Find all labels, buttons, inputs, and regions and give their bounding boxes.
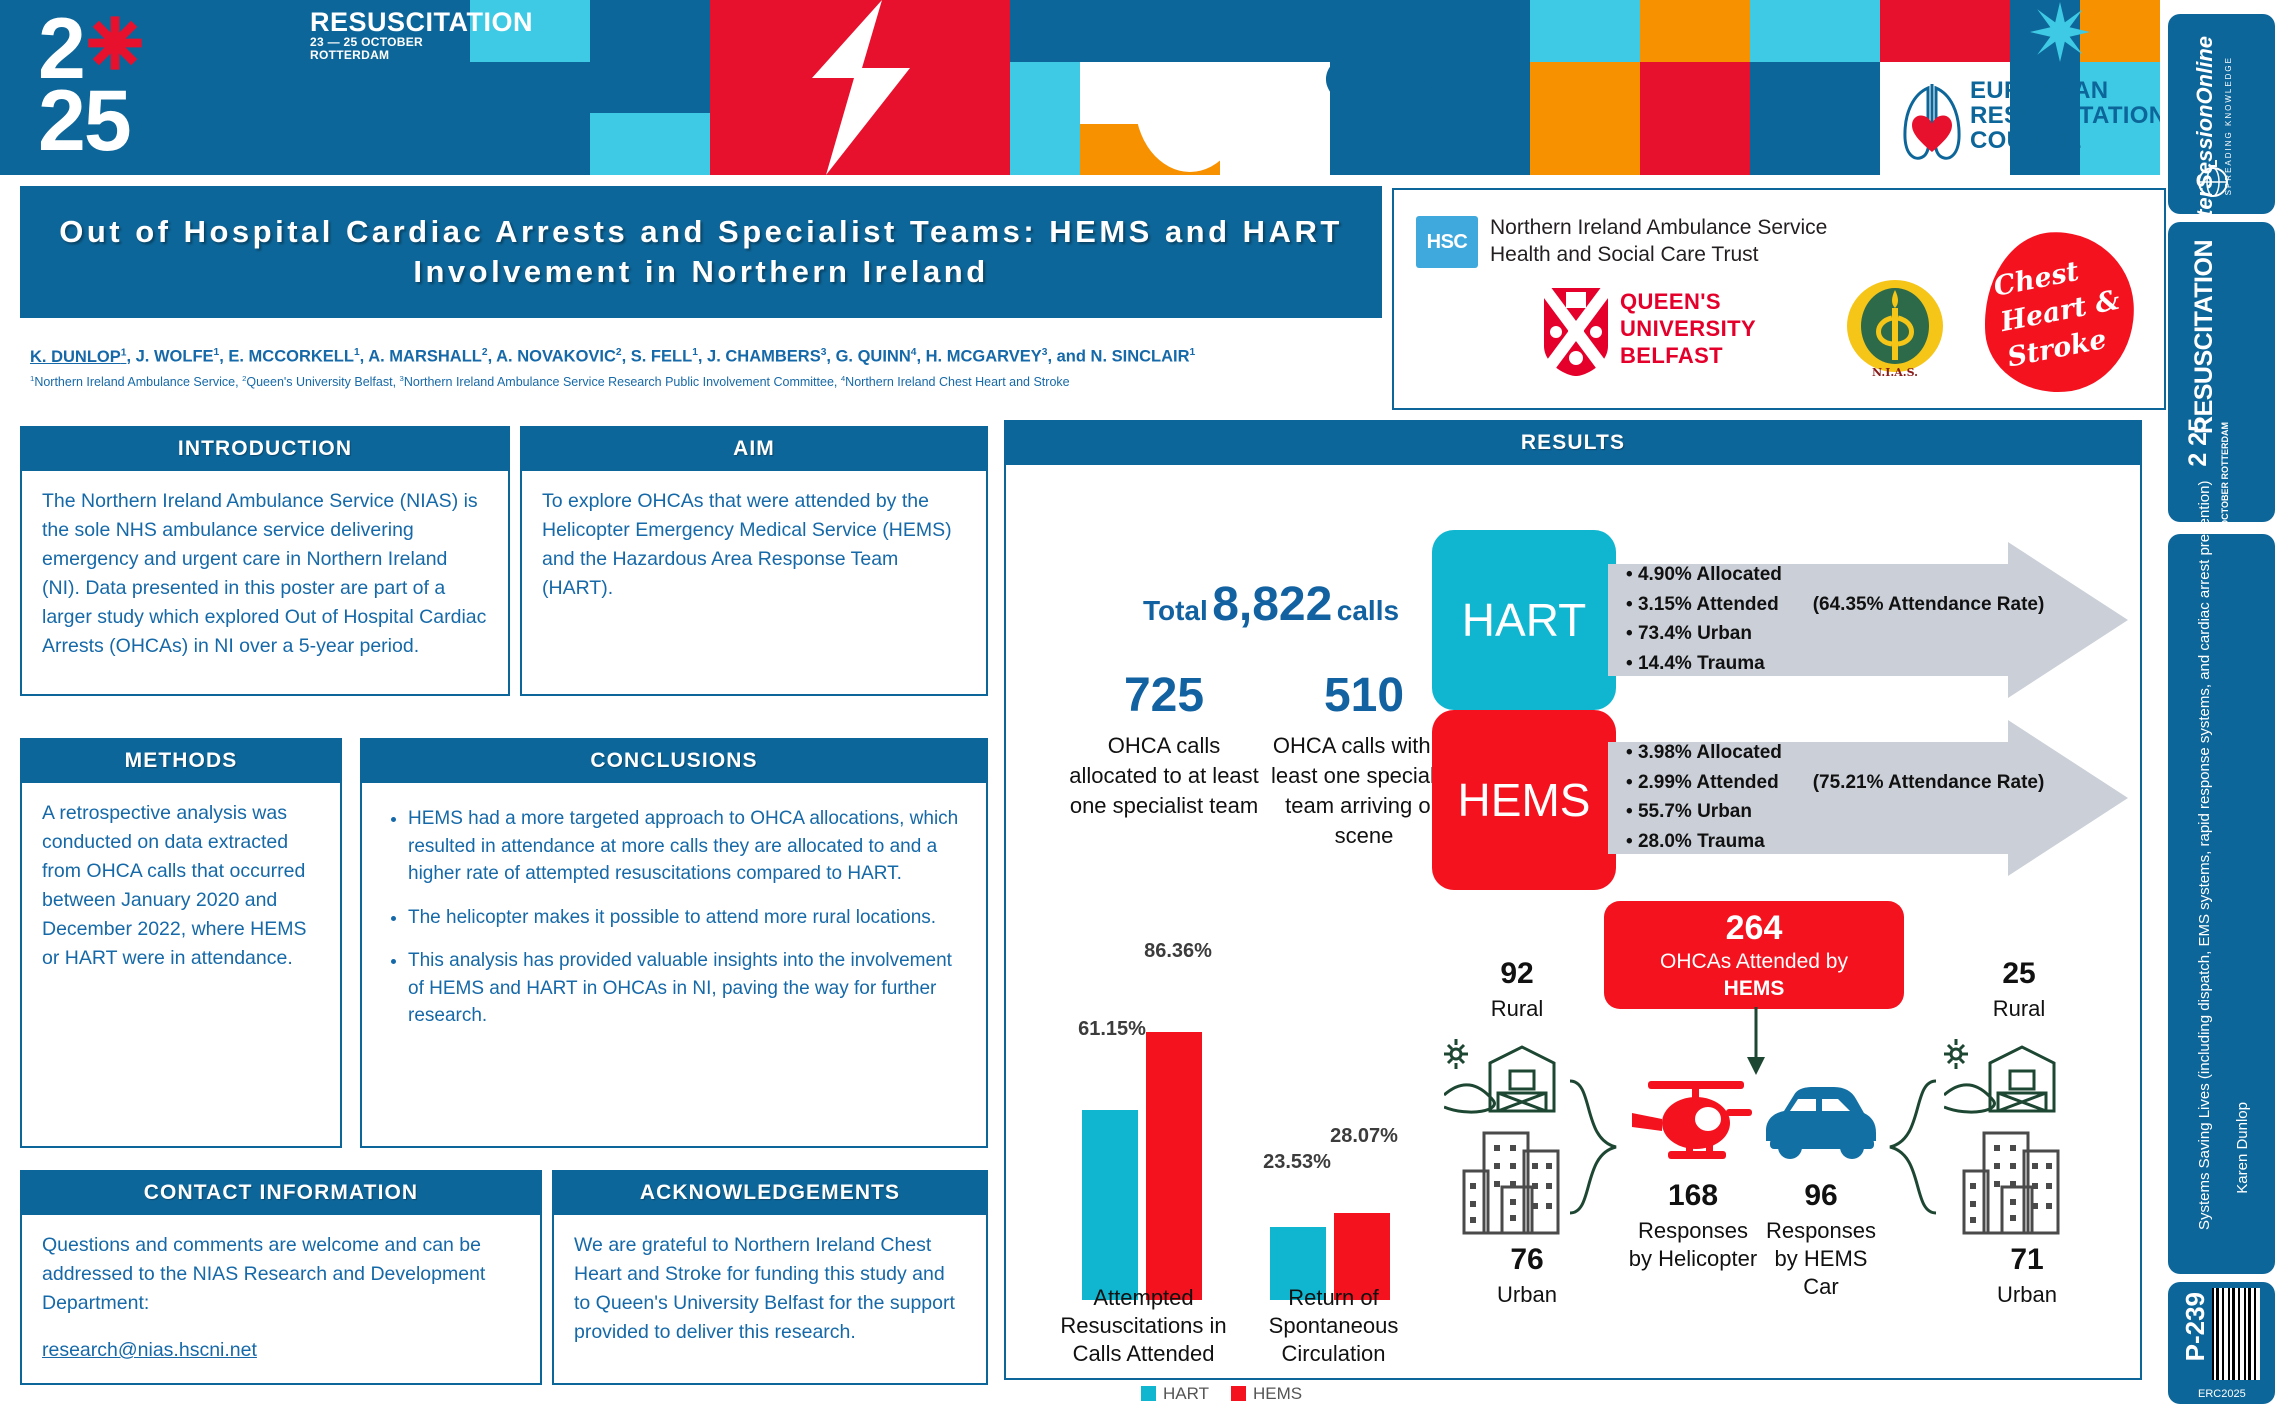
aim-body: To explore OHCAs that were attended by t…: [522, 471, 986, 613]
section-aim: AIM To explore OHCAs that were attended …: [520, 426, 988, 696]
qub-line-1: QUEEN'S: [1620, 288, 1756, 315]
queens-university-text: QUEEN'S UNIVERSITY BELFAST: [1620, 288, 1756, 369]
car-icon: [1760, 1085, 1880, 1165]
bar-value-label: 61.15%: [1066, 1018, 1158, 1041]
section-acknowledgements: ACKNOWLEDGEMENTS We are grateful to Nort…: [552, 1170, 988, 1385]
section-results: RESULTS Total 8,822 calls 725 OHCA calls…: [1004, 420, 2142, 1380]
stat-allocated-label: OHCA calls allocated to at least one spe…: [1064, 731, 1264, 821]
congress-code-label: ERC2025: [2198, 1388, 2246, 1400]
conclusions-bullet-list: HEMS had a more targeted approach to OHC…: [382, 805, 966, 1030]
contact-heading: CONTACT INFORMATION: [22, 1172, 540, 1215]
hems-center-line2: HEMS: [1604, 975, 1904, 1002]
bar-value-label: 86.36%: [1128, 940, 1228, 963]
conclusions-body: HEMS had a more targeted approach to OHC…: [362, 783, 986, 1056]
legend-item-hart: HART: [1141, 1384, 1209, 1404]
hems-response-diagram: 264 OHCAs Attended by HEMS 92 Rural: [1416, 897, 2116, 1367]
mosaic-tile: [590, 0, 710, 62]
page-title: Out of Hospital Cardiac Arrests and Spec…: [20, 212, 1382, 292]
down-arrow-icon: [1738, 1007, 1774, 1077]
farm-icon: [1444, 1035, 1574, 1125]
team-card-hems-label: HEMS: [1458, 773, 1591, 827]
left-urban-number: 76: [1472, 1243, 1582, 1277]
hart-bullet-list: • 4.90% Allocated • 3.15% Attended(64.35…: [1626, 560, 2044, 678]
section-contact: CONTACT INFORMATION Questions and commen…: [20, 1170, 542, 1385]
mosaic-tile: [1530, 62, 1640, 175]
poster-root: RESUSCITATION 23 — 25 OCTOBER ROTTERDAM: [0, 0, 2283, 1416]
erc-logo-text: EUROPEAN RESUSCITATION COUNCIL: [1970, 78, 2166, 153]
hems-bullet: • 2.99% Attended(75.21% Attendance Rate): [1626, 768, 2044, 798]
bar-value-label: 23.53%: [1251, 1151, 1343, 1174]
congress-banner: RESUSCITATION 23 — 25 OCTOBER ROTTERDAM: [0, 0, 2160, 175]
hart-bullet: • 14.4% Trauma: [1626, 649, 2044, 679]
right-rural-number: 25: [1964, 957, 2074, 991]
hems-bullet: • 3.98% Allocated: [1626, 738, 2044, 768]
hems-attendance-rate: (75.21% Attendance Rate): [1813, 772, 2045, 793]
introduction-body: The Northern Ireland Ambulance Service (…: [22, 471, 508, 671]
section-conclusions: CONCLUSIONS HEMS had a more targeted app…: [360, 738, 988, 1148]
arrow-hart: • 4.90% Allocated • 3.15% Attended(64.35…: [1608, 542, 2128, 698]
congress-name: RESUSCITATION: [310, 8, 533, 36]
globe-icon: [2190, 156, 2236, 202]
poster-number-badge: P-239 ERC2025: [2168, 1282, 2275, 1404]
lungs-heart-icon: [1900, 78, 1964, 166]
hems-bullet-list: • 3.98% Allocated • 2.99% Attended(75.21…: [1626, 738, 2044, 856]
erc-line-1: EUROPEAN: [1970, 78, 2166, 103]
conclusions-heading: CONCLUSIONS: [362, 740, 986, 783]
hems-center-line1: OHCAs Attended by: [1604, 948, 1904, 975]
left-rural-number: 92: [1462, 957, 1572, 991]
nias-line-2: Health and Social Care Trust: [1490, 241, 1827, 268]
topic-label: Systems Saving Lives (including dispatch…: [2196, 570, 2213, 1230]
nias-line-1: Northern Ireland Ambulance Service: [1490, 214, 1827, 241]
bar-chart: 61.15% 86.36% Attempted Resuscitations i…: [1046, 922, 1441, 1362]
helicopter-number: 168: [1638, 1179, 1748, 1213]
hems-bullet: • 55.7% Urban: [1626, 797, 2044, 827]
conclusion-bullet: The helicopter makes it possible to atte…: [408, 904, 966, 932]
brace-icon: [1568, 1077, 1620, 1217]
bar-hems-1: [1146, 1032, 1202, 1300]
congress-vertical-year: 2 25: [2184, 418, 2213, 467]
poster-number-label: P-239: [2180, 1292, 2211, 1361]
legend-item-hems: HEMS: [1231, 1384, 1302, 1404]
queens-university-shield-icon: [1542, 286, 1610, 378]
contact-email-link[interactable]: research@nias.hscni.net: [42, 1339, 257, 1361]
poster-session-online-badge[interactable]: PosterSessionOnline SPREADING KNOWLEDGE: [2168, 14, 2275, 214]
hart-bullet: • 3.15% Attended(64.35% Attendance Rate): [1626, 590, 2044, 620]
left-urban-label: Urban: [1462, 1281, 1592, 1309]
city-icon: [1962, 1129, 2082, 1239]
hart-bullet: • 4.90% Allocated: [1626, 560, 2044, 590]
introduction-heading: INTRODUCTION: [22, 428, 508, 471]
nias-crest-icon: N.I.A.S.: [1834, 272, 1956, 382]
barcode: [2212, 1288, 2260, 1380]
congress-city: ROTTERDAM: [310, 49, 533, 62]
tulip-icon: [1080, 52, 1300, 175]
section-methods: METHODS A retrospective analysis was con…: [20, 738, 342, 1148]
mosaic-tile: [470, 62, 590, 175]
presenter-label: Karen Dunlop: [2234, 1102, 2251, 1194]
hart-bullet: • 73.4% Urban: [1626, 619, 2044, 649]
erc-line-2: RESUSCITATION: [1970, 103, 2166, 128]
total-calls-stat: Total 8,822 calls: [1056, 577, 1486, 632]
total-suffix: calls: [1337, 595, 1399, 626]
author-list: K. DUNLOP1, J. WOLFE1, E. MCCORKELL1, A.…: [30, 343, 1380, 367]
acknowledgements-heading: ACKNOWLEDGEMENTS: [554, 1172, 986, 1215]
helicopter-icon: [1630, 1075, 1756, 1175]
year-digits-bottom: 25: [38, 86, 130, 156]
asterisk-icon: [86, 14, 144, 72]
erc-line-3: COUNCIL: [1970, 128, 2166, 153]
total-prefix: Total: [1143, 595, 1208, 626]
author-block: K. DUNLOP1, J. WOLFE1, E. MCCORKELL1, A.…: [30, 343, 1380, 390]
starburst-icon: [1005, 0, 1135, 62]
legend-label-hems: HEMS: [1253, 1384, 1302, 1403]
heart-icon: [1320, 52, 1540, 175]
city-icon: [1462, 1129, 1582, 1239]
right-urban-label: Urban: [1962, 1281, 2092, 1309]
bar-category-label: Return of Spontaneous Circulation: [1246, 1284, 1421, 1368]
hems-car-number: 96: [1766, 1179, 1876, 1213]
nias-logo-text: Northern Ireland Ambulance Service Healt…: [1490, 214, 1827, 268]
conclusion-bullet: HEMS had a more targeted approach to OHC…: [408, 805, 966, 888]
starburst-icon: [2005, 2, 2115, 62]
methods-body: A retrospective analysis was conducted o…: [22, 783, 340, 983]
topic-badge: Systems Saving Lives (including dispatch…: [2168, 534, 2275, 1274]
erc-logo: EUROPEAN RESUSCITATION COUNCIL: [1900, 78, 2150, 170]
aim-heading: AIM: [522, 428, 986, 471]
mosaic-tile: [1530, 0, 1640, 62]
qub-line-3: BELFAST: [1620, 342, 1756, 369]
helicopter-label: Responses by Helicopter: [1628, 1217, 1758, 1273]
qub-line-2: UNIVERSITY: [1620, 315, 1756, 342]
bar-hart-1: [1082, 1110, 1138, 1300]
hart-attendance-rate: (64.35% Attendance Rate): [1813, 594, 2045, 615]
hems-center-box: 264 OHCAs Attended by HEMS: [1604, 901, 1904, 1009]
mosaic-tile: [1640, 62, 1750, 175]
right-rural-label: Rural: [1954, 995, 2084, 1023]
mosaic-tile: [1640, 0, 1750, 62]
affiliation-list: 1Northern Ireland Ambulance Service, 2Qu…: [30, 371, 1380, 390]
total-value: 8,822: [1212, 578, 1332, 631]
methods-heading: METHODS: [22, 740, 340, 783]
contact-body-wrap: Questions and comments are welcome and c…: [22, 1215, 540, 1375]
congress-vertical-name: RESUSCITATION: [2190, 240, 2219, 434]
chest-heart-stroke-logo: ChestHeart &Stroke: [1979, 227, 2140, 397]
team-card-hart-label: HART: [1462, 593, 1586, 647]
poster-title-box: Out of Hospital Cardiac Arrests and Spec…: [20, 186, 1382, 318]
right-urban-number: 71: [1972, 1243, 2082, 1277]
contact-body: Questions and comments are welcome and c…: [42, 1231, 520, 1318]
mosaic-tile: [1010, 62, 1080, 175]
congress-vertical-badge: RESUSCITATION 2 25 23 — 25 OCTOBER ROTTE…: [2168, 222, 2275, 522]
section-introduction: INTRODUCTION The Northern Ireland Ambula…: [20, 426, 510, 696]
congress-name-block: RESUSCITATION 23 — 25 OCTOBER ROTTERDAM: [310, 8, 533, 62]
chart-legend: HART HEMS: [1141, 1384, 1302, 1404]
stat-allocated: 725 OHCA calls allocated to at least one…: [1064, 667, 1264, 821]
conclusion-bullet: This analysis has provided valuable insi…: [408, 947, 966, 1030]
chs-text: ChestHeart &Stroke: [1991, 247, 2130, 376]
legend-label-hart: HART: [1163, 1384, 1209, 1403]
stat-allocated-number: 725: [1064, 667, 1264, 725]
team-card-hart: HART: [1432, 530, 1616, 710]
hems-bullet: • 28.0% Trauma: [1626, 827, 2044, 857]
acknowledgements-body: We are grateful to Northern Ireland Ches…: [554, 1215, 986, 1357]
team-card-hems: HEMS: [1432, 710, 1616, 890]
bar-category-label: Attempted Resuscitations in Calls Attend…: [1036, 1284, 1251, 1368]
partner-logos-box: HSC Northern Ireland Ambulance Service H…: [1392, 188, 2166, 410]
bar-value-label: 28.07%: [1314, 1125, 1414, 1148]
farm-icon: [1944, 1035, 2074, 1125]
right-rail: PosterSessionOnline SPREADING KNOWLEDGE …: [2160, 0, 2283, 1416]
mosaic-tile: [1750, 62, 1880, 175]
mosaic-tile: [590, 113, 710, 175]
brace-icon: [1886, 1077, 1938, 1217]
hems-center-number: 264: [1604, 901, 1904, 948]
left-rural-label: Rural: [1452, 995, 1582, 1023]
arrow-hems: • 3.98% Allocated • 2.99% Attended(75.21…: [1608, 720, 2128, 876]
hems-car-label: Responses by HEMS Car: [1756, 1217, 1886, 1301]
mosaic-tile: [1750, 0, 1880, 62]
results-heading: RESULTS: [1006, 422, 2140, 465]
mosaic-tile: [1880, 0, 2010, 62]
lightning-bolt-icon: [790, 0, 940, 175]
crest-caption: N.I.A.S.: [1872, 366, 1918, 379]
hsc-logo: HSC: [1416, 216, 1478, 268]
